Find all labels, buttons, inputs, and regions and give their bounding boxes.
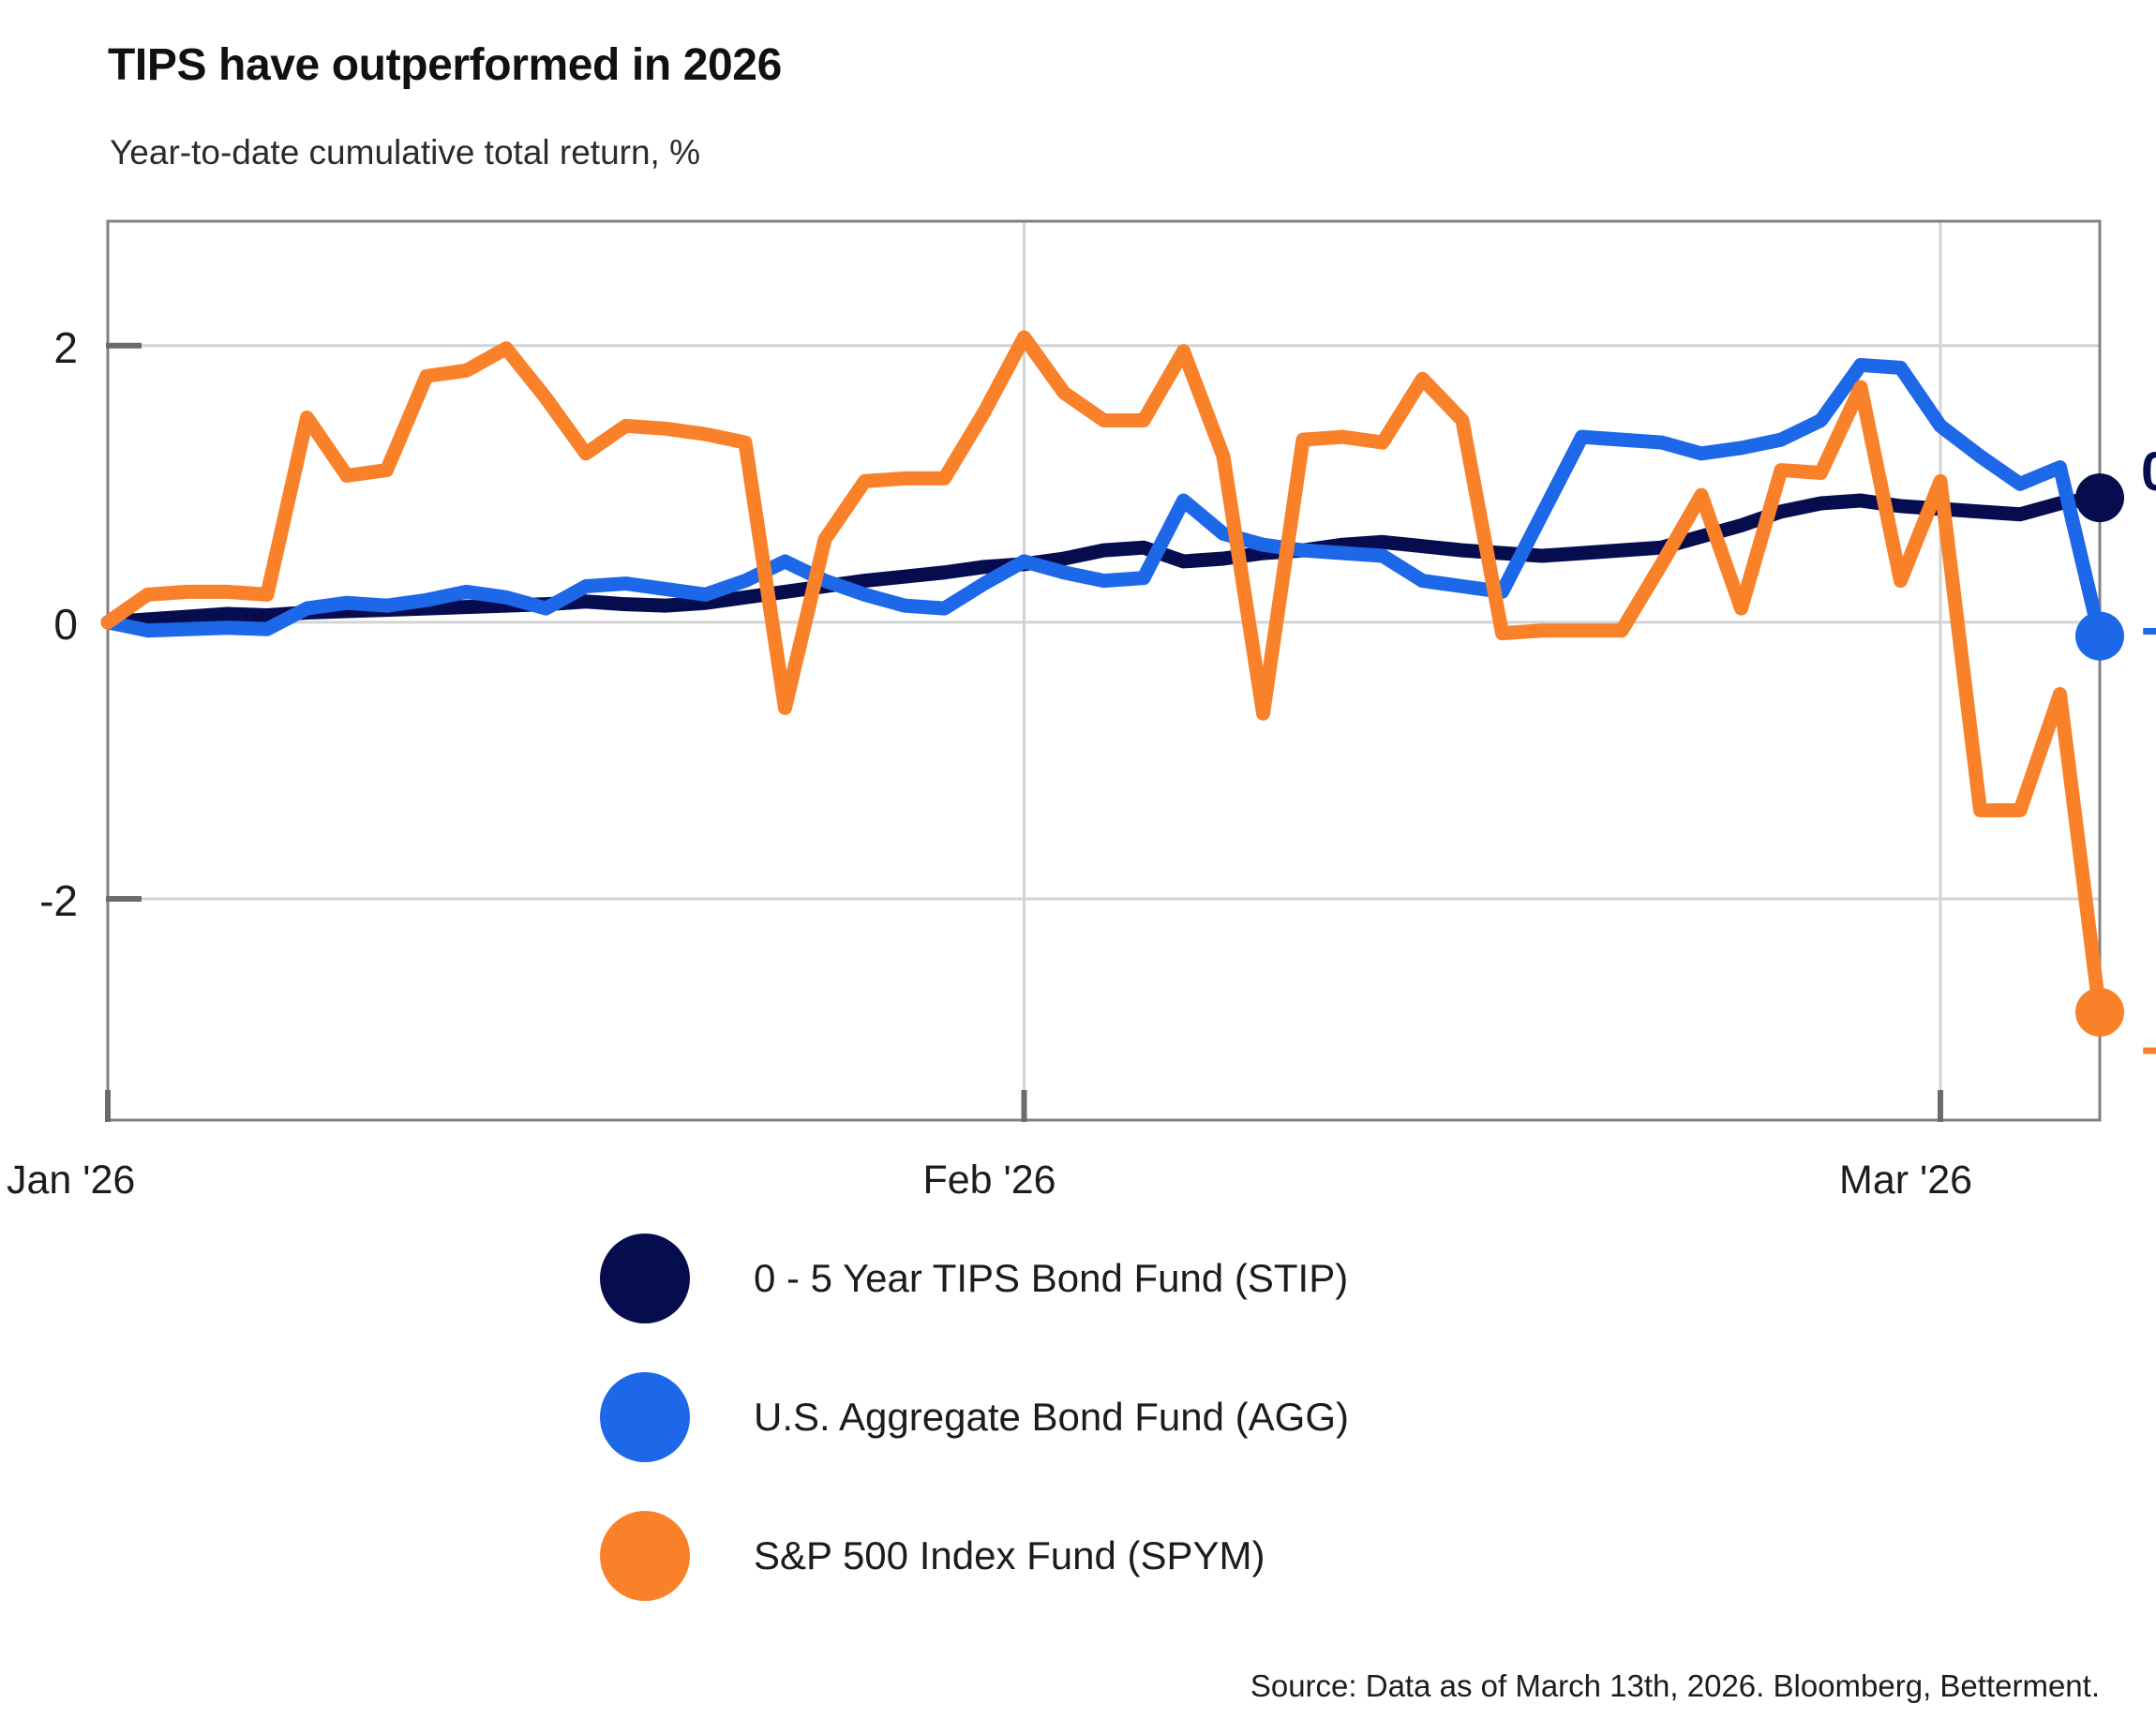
source-note: Source: Data as of March 13th, 2026. Blo… (1250, 1668, 2100, 1704)
legend-swatch-stip (600, 1233, 690, 1323)
y-tick-labels: 20-2 (39, 323, 78, 925)
series-lines (108, 337, 2100, 1012)
end-value-labels: 0.9%-0.1%-2.8% (2141, 441, 2156, 1077)
chart-legend: 0 - 5 Year TIPS Bond Fund (STIP) U.S. Ag… (600, 1209, 1819, 1625)
chart-plot-area: 20-2 Jan '26Feb '26Mar '26 0.9%-0.1%-2.8… (0, 0, 2156, 1218)
chart-page: TIPS have outperformed in 2026 Year-to-d… (0, 0, 2156, 1734)
svg-text:0.9%: 0.9% (2141, 441, 2156, 502)
svg-text:Mar '26: Mar '26 (1839, 1158, 1972, 1203)
gridlines (108, 221, 2100, 1120)
legend-item-spym[interactable]: S&P 500 Index Fund (SPYM) (600, 1487, 1819, 1625)
legend-label-agg: U.S. Aggregate Bond Fund (AGG) (754, 1395, 1349, 1440)
svg-text:-2.8%: -2.8% (2141, 1016, 2156, 1077)
legend-item-agg[interactable]: U.S. Aggregate Bond Fund (AGG) (600, 1348, 1819, 1487)
legend-swatch-spym (600, 1511, 690, 1601)
svg-text:2: 2 (53, 323, 78, 372)
line-chart-svg: 20-2 Jan '26Feb '26Mar '26 0.9%-0.1%-2.8… (0, 0, 2156, 1218)
axis-frame (108, 221, 2100, 1120)
legend-label-spym: S&P 500 Index Fund (SPYM) (754, 1533, 1265, 1578)
legend-swatch-agg (600, 1372, 690, 1462)
svg-text:0: 0 (53, 600, 78, 649)
x-tick-labels: Jan '26Feb '26Mar '26 (7, 1158, 1972, 1203)
svg-text:Feb '26: Feb '26 (923, 1158, 1056, 1203)
svg-text:-2: -2 (39, 876, 78, 925)
svg-text:-0.1%: -0.1% (2141, 597, 2156, 658)
legend-item-stip[interactable]: 0 - 5 Year TIPS Bond Fund (STIP) (600, 1209, 1819, 1348)
legend-label-stip: 0 - 5 Year TIPS Bond Fund (STIP) (754, 1256, 1348, 1301)
svg-text:Jan '26: Jan '26 (7, 1158, 135, 1203)
